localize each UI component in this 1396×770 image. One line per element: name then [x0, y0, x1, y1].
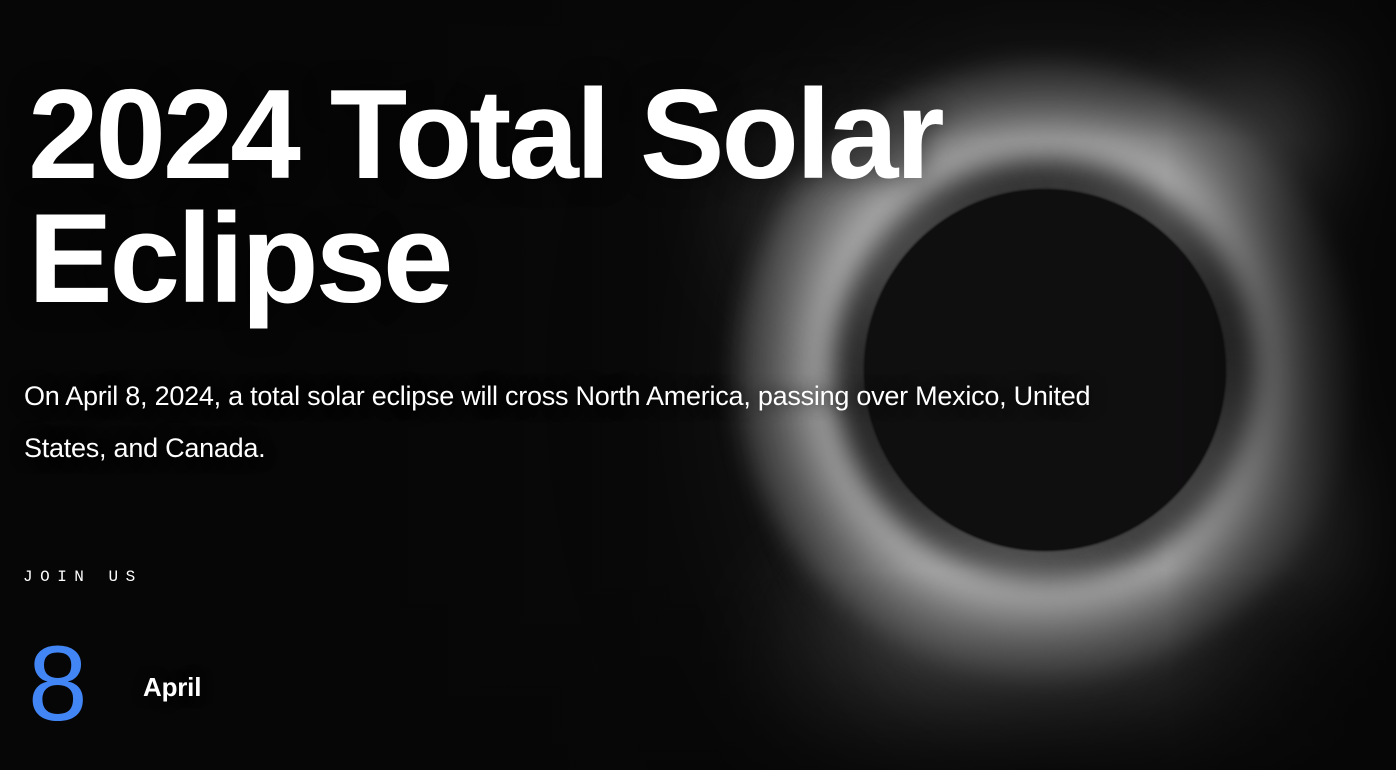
- eclipse-hero-section: 2024 Total Solar Eclipse On April 8, 202…: [0, 0, 1396, 770]
- event-date-day: 8: [28, 630, 143, 737]
- event-date: 8 April: [28, 630, 201, 737]
- event-date-month: April: [143, 672, 201, 703]
- join-us-label: JOIN US: [23, 568, 143, 586]
- page-title: 2024 Total Solar Eclipse: [28, 72, 1098, 321]
- hero-description: On April 8, 2024, a total solar eclipse …: [24, 370, 1154, 474]
- hero-content: 2024 Total Solar Eclipse On April 8, 202…: [0, 0, 1396, 770]
